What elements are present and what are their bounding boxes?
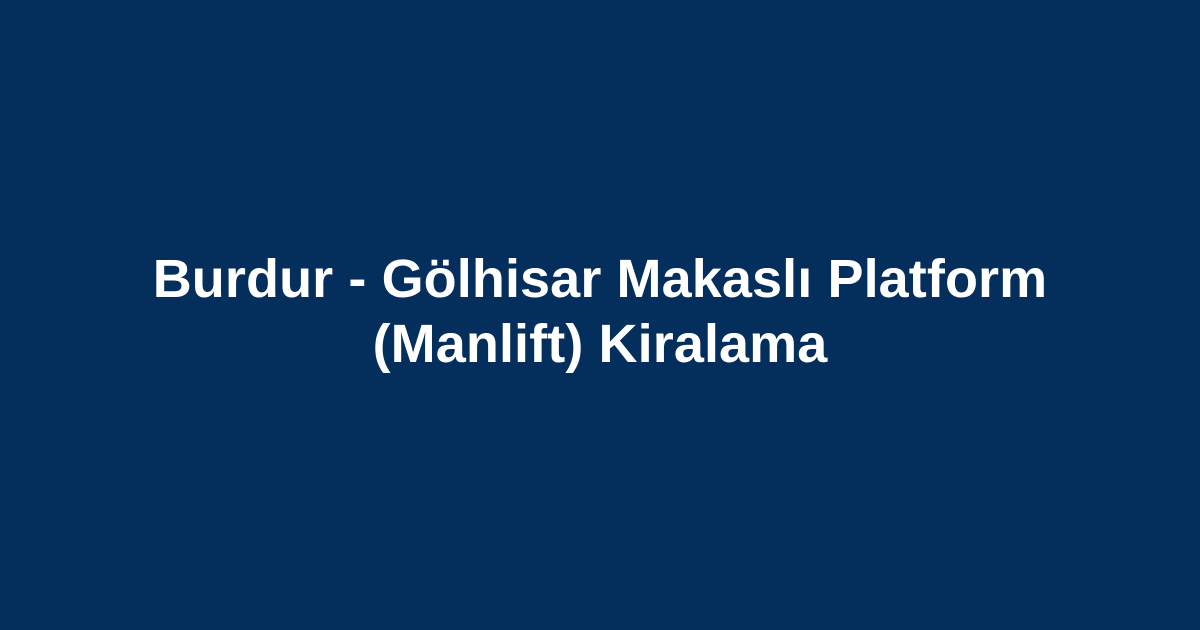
- page-title: Burdur - Gölhisar Makaslı Platform (Manl…: [150, 247, 1050, 377]
- card-content-wrapper: Burdur - Gölhisar Makaslı Platform (Manl…: [0, 247, 1200, 377]
- og-share-card: Burdur - Gölhisar Makaslı Platform (Manl…: [0, 0, 1200, 630]
